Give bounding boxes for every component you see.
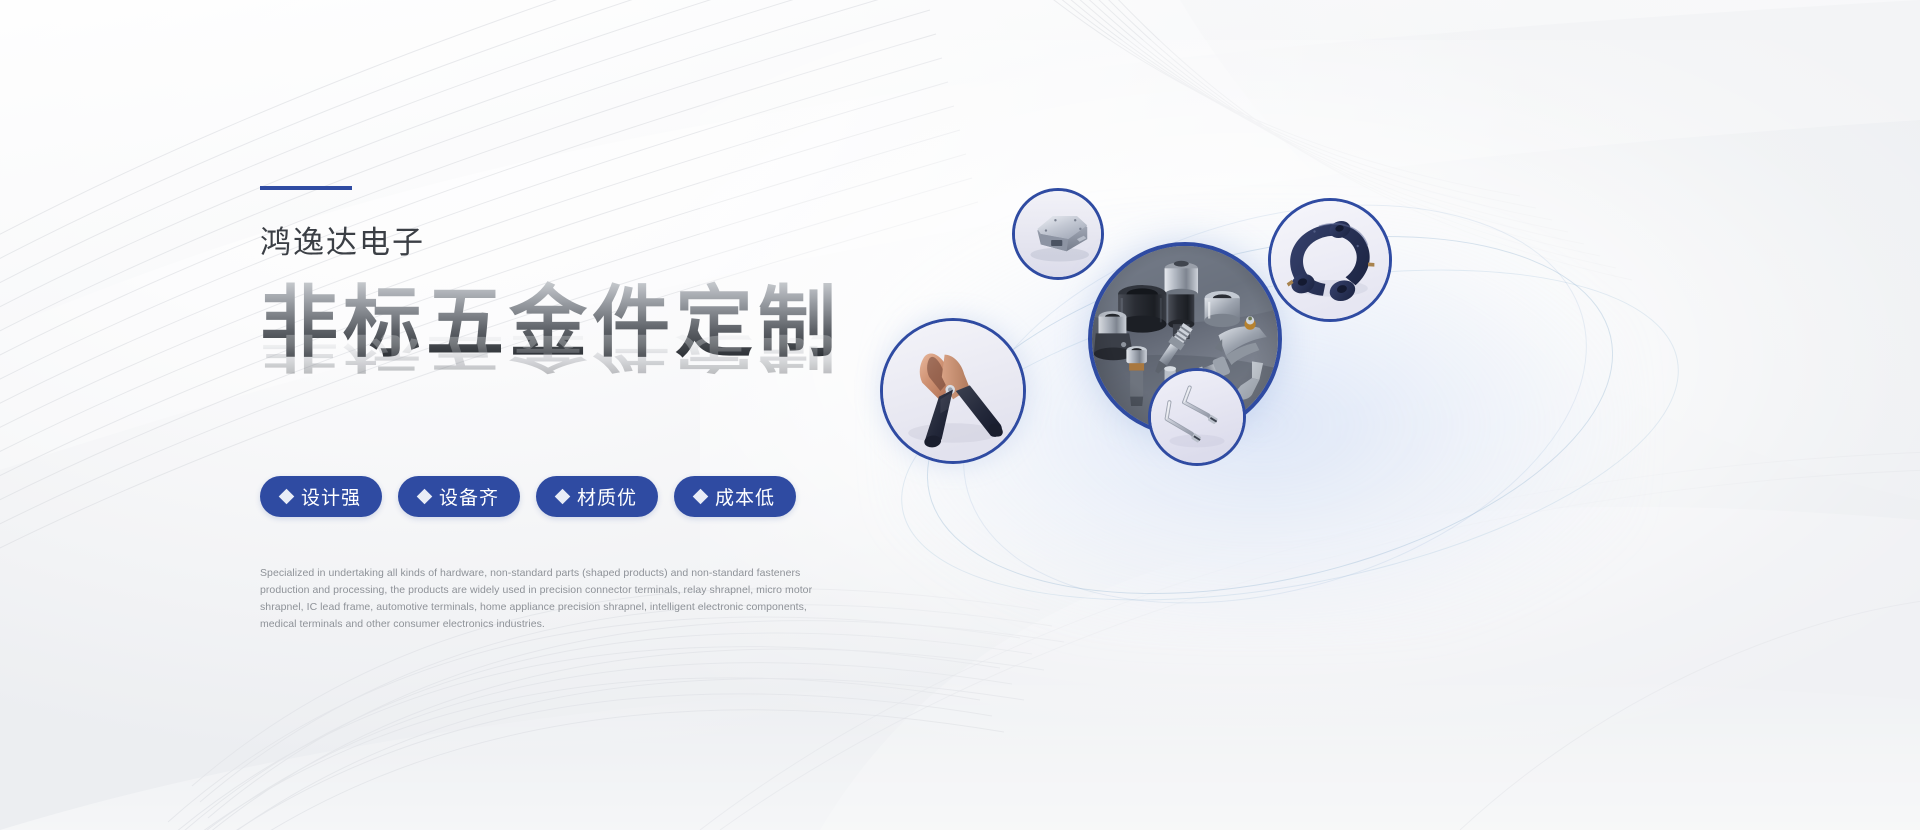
brand-name: 鸿逸达电子	[260, 226, 880, 260]
diamond-icon	[417, 489, 433, 505]
product-node-retaining-ring[interactable]	[1268, 198, 1392, 322]
product-node-metal-shielding-box[interactable]	[1012, 188, 1104, 280]
metal-shielding-box-icon	[1015, 191, 1101, 277]
badge-label: 设计强	[301, 483, 361, 510]
feature-badge-list: 设计强 设备齐 材质优 成本低	[260, 476, 880, 517]
headline-wrap: 非标五金件定制 非标五金件定制	[260, 278, 880, 428]
diamond-icon	[279, 489, 295, 505]
description-paragraph: Specialized in undertaking all kinds of …	[260, 565, 835, 633]
product-node-bent-pin-terminals[interactable]	[1148, 368, 1246, 466]
page-title: 非标五金件定制	[260, 278, 880, 368]
copper-battery-clamp-icon	[883, 321, 1023, 461]
product-node-copper-battery-clamp[interactable]	[880, 318, 1026, 464]
badge-label: 材质优	[577, 483, 637, 510]
bent-pin-terminals-icon	[1151, 371, 1243, 463]
hero-text-block: 鸿逸达电子 非标五金件定制 非标五金件定制 设计强 设备齐 材质优 成本低	[260, 186, 880, 633]
navy-retaining-ring-icon	[1271, 201, 1389, 319]
product-cluster	[900, 100, 1800, 720]
badge-material[interactable]: 材质优	[536, 476, 658, 517]
badge-label: 设备齐	[439, 483, 499, 510]
hero-banner: 鸿逸达电子 非标五金件定制 非标五金件定制 设计强 设备齐 材质优 成本低	[0, 0, 1920, 830]
diamond-icon	[693, 489, 709, 505]
accent-rule	[260, 186, 352, 190]
badge-equipment[interactable]: 设备齐	[398, 476, 520, 517]
diamond-icon	[555, 489, 571, 505]
badge-cost[interactable]: 成本低	[674, 476, 796, 517]
badge-label: 成本低	[715, 483, 775, 510]
badge-design[interactable]: 设计强	[260, 476, 382, 517]
